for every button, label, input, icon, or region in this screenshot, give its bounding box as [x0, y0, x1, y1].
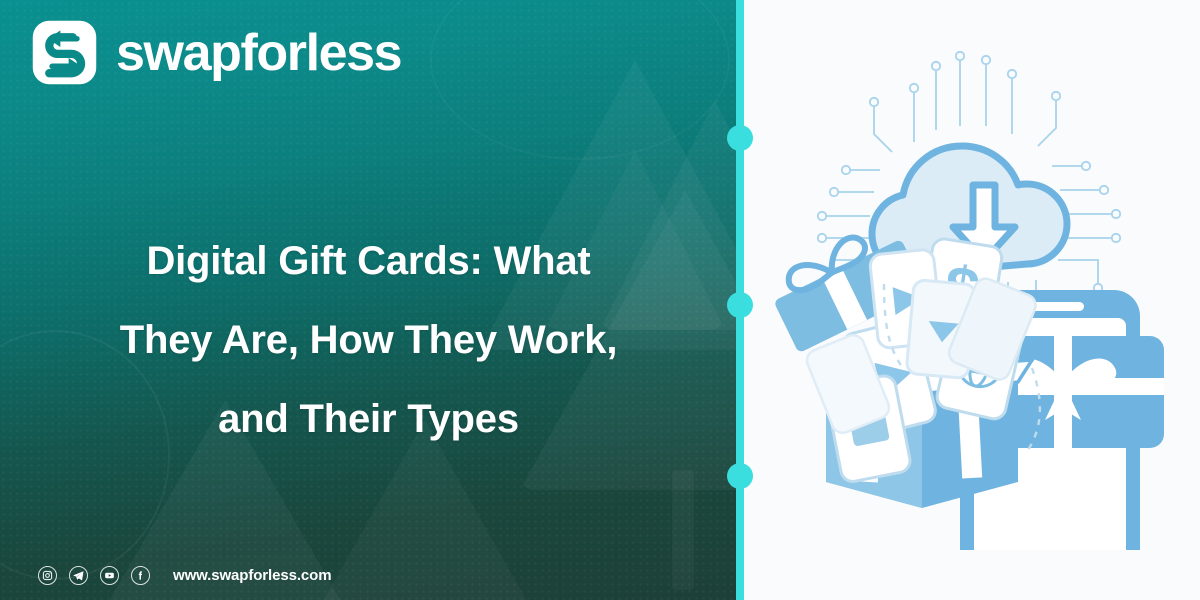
- instagram-icon[interactable]: [38, 566, 57, 585]
- footer-bar: www.swapforless.com: [38, 566, 331, 585]
- right-illustration-panel: $: [744, 0, 1200, 600]
- headline-line-1: Digital Gift Cards: What: [36, 222, 701, 301]
- facebook-icon[interactable]: [131, 566, 150, 585]
- headline-line-3: and Their Types: [36, 380, 701, 459]
- divider-dot-3: [727, 463, 753, 489]
- watermark-swoosh-2: [430, 0, 730, 160]
- brand-wordmark: swapforless: [116, 27, 401, 79]
- swap-arrows-logo-icon: [30, 18, 99, 87]
- digital-gift-card-cloud-illustration: $: [764, 30, 1184, 550]
- youtube-icon[interactable]: [100, 566, 119, 585]
- divider-dot-1: [727, 125, 753, 151]
- headline-line-2: They Are, How They Work,: [36, 301, 701, 380]
- brand-logo[interactable]: swapforless: [30, 18, 401, 87]
- divider-dot-2: [727, 292, 753, 318]
- website-url[interactable]: www.swapforless.com: [173, 567, 331, 584]
- page-title: Digital Gift Cards: What They Are, How T…: [36, 222, 701, 459]
- watermark-triangle-1-stem: [672, 470, 694, 590]
- left-teal-panel: swapforless Digital Gift Cards: What The…: [0, 0, 737, 600]
- telegram-icon[interactable]: [69, 566, 88, 585]
- banner-root: swapforless Digital Gift Cards: What The…: [0, 0, 1200, 600]
